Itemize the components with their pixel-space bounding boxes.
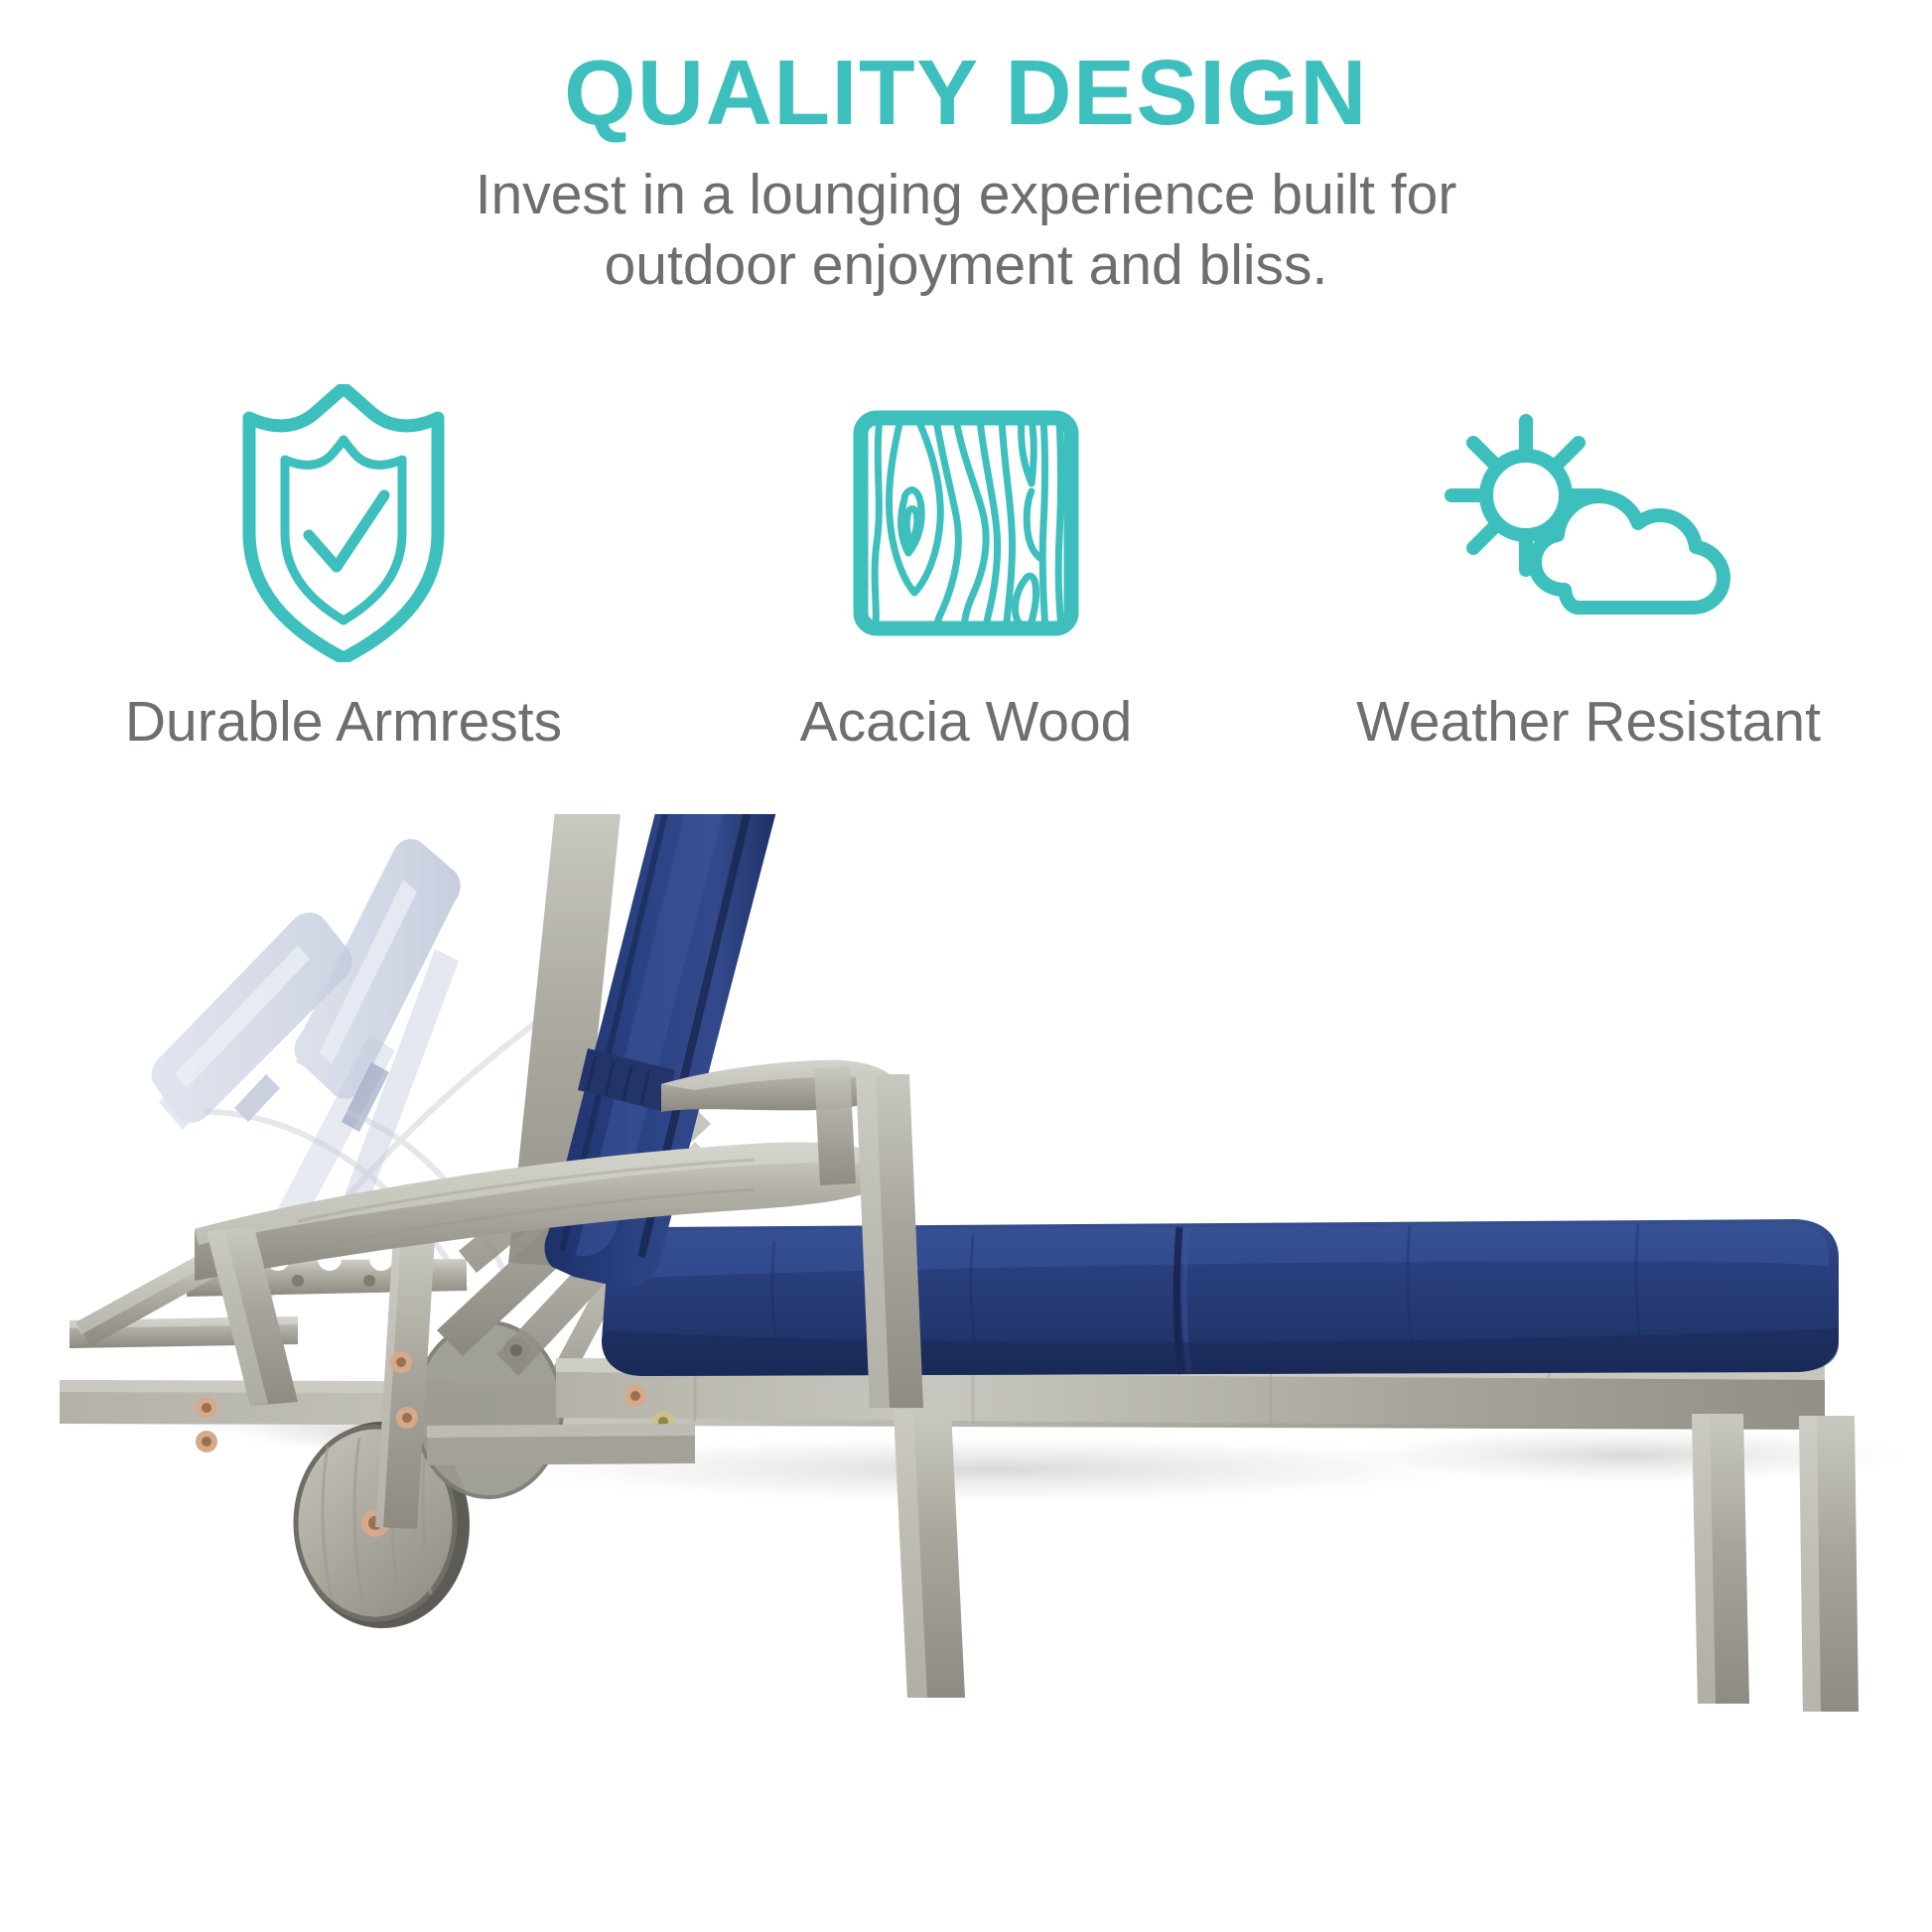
page-title: QUALITY DESIGN xyxy=(0,44,1932,142)
feature-label-weather-resistant: Weather Resistant xyxy=(1356,689,1821,755)
feature-item-weather-resistant: Weather Resistant xyxy=(1291,379,1886,755)
page-subtitle-line-1: Invest in a lounging experience built fo… xyxy=(321,160,1611,230)
page-subtitle: Invest in a lounging experience built fo… xyxy=(321,160,1611,302)
seat-cushion xyxy=(602,1219,1839,1376)
feature-item-acacia-wood: Acacia Wood xyxy=(668,379,1264,755)
feature-list: Durable Armrests xyxy=(0,379,1932,755)
sun-cloud-icon xyxy=(1440,379,1737,667)
page-subtitle-line-2: outdoor enjoyment and bliss. xyxy=(321,230,1611,301)
header: QUALITY DESIGN Invest in a lounging expe… xyxy=(0,0,1932,301)
feature-label-durable-armrests: Durable Armrests xyxy=(125,689,562,755)
feature-label-acacia-wood: Acacia Wood xyxy=(800,689,1133,755)
product-image-chaise-lounge xyxy=(0,814,1932,1932)
wood-grain-icon xyxy=(847,379,1085,667)
shield-check-icon xyxy=(229,379,458,667)
feature-item-durable-armrests: Durable Armrests xyxy=(46,379,641,755)
